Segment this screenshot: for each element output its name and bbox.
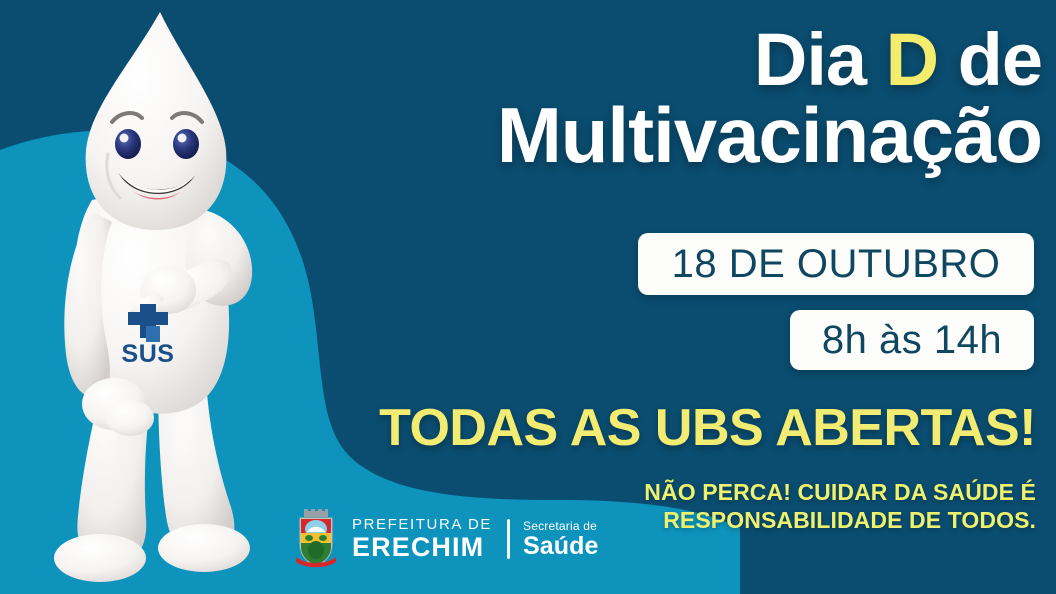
logo-lockup: PREFEITURA DE ERECHIM Secretaria de Saúd…	[292, 508, 599, 570]
secretaria-label-bottom: Saúde	[523, 534, 599, 559]
event-date-text: 18 DE OUTUBRO	[672, 242, 1001, 287]
headline-line1-a: Dia	[754, 18, 886, 101]
event-date-badge: 18 DE OUTUBRO	[638, 233, 1034, 295]
prefeitura-label-bottom: ERECHIM	[352, 534, 492, 561]
headline-highlight-d: D	[886, 18, 938, 101]
event-time-badge: 8h às 14h	[790, 310, 1034, 370]
prefeitura-wordmark: PREFEITURA DE ERECHIM	[352, 517, 492, 561]
headline-line1-b: de	[938, 18, 1042, 101]
cta-subtext-line1: NÃO PERCA! CUIDAR DA SAÚDE É	[430, 478, 1036, 506]
secretaria-wordmark: Secretaria de Saúde	[523, 520, 599, 559]
mascot-ze-gotinha: SUS	[8, 4, 328, 594]
page-title: Dia D de Multivacinação	[300, 24, 1042, 173]
secretaria-label-top: Secretaria de	[523, 520, 599, 532]
cta-headline: TODAS AS UBS ABERTAS!	[230, 398, 1036, 458]
vaccination-campaign-poster: SUS Dia D de Multivacinação 18 DE OUTUBR…	[0, 0, 1056, 594]
event-time-text: 8h às 14h	[822, 318, 1002, 363]
prefeitura-label-top: PREFEITURA DE	[352, 517, 492, 532]
logo-divider	[507, 519, 510, 559]
erechim-coat-of-arms-icon	[292, 509, 340, 569]
headline-line2: Multivacinação	[300, 97, 1042, 173]
svg-text:SUS: SUS	[122, 340, 175, 368]
